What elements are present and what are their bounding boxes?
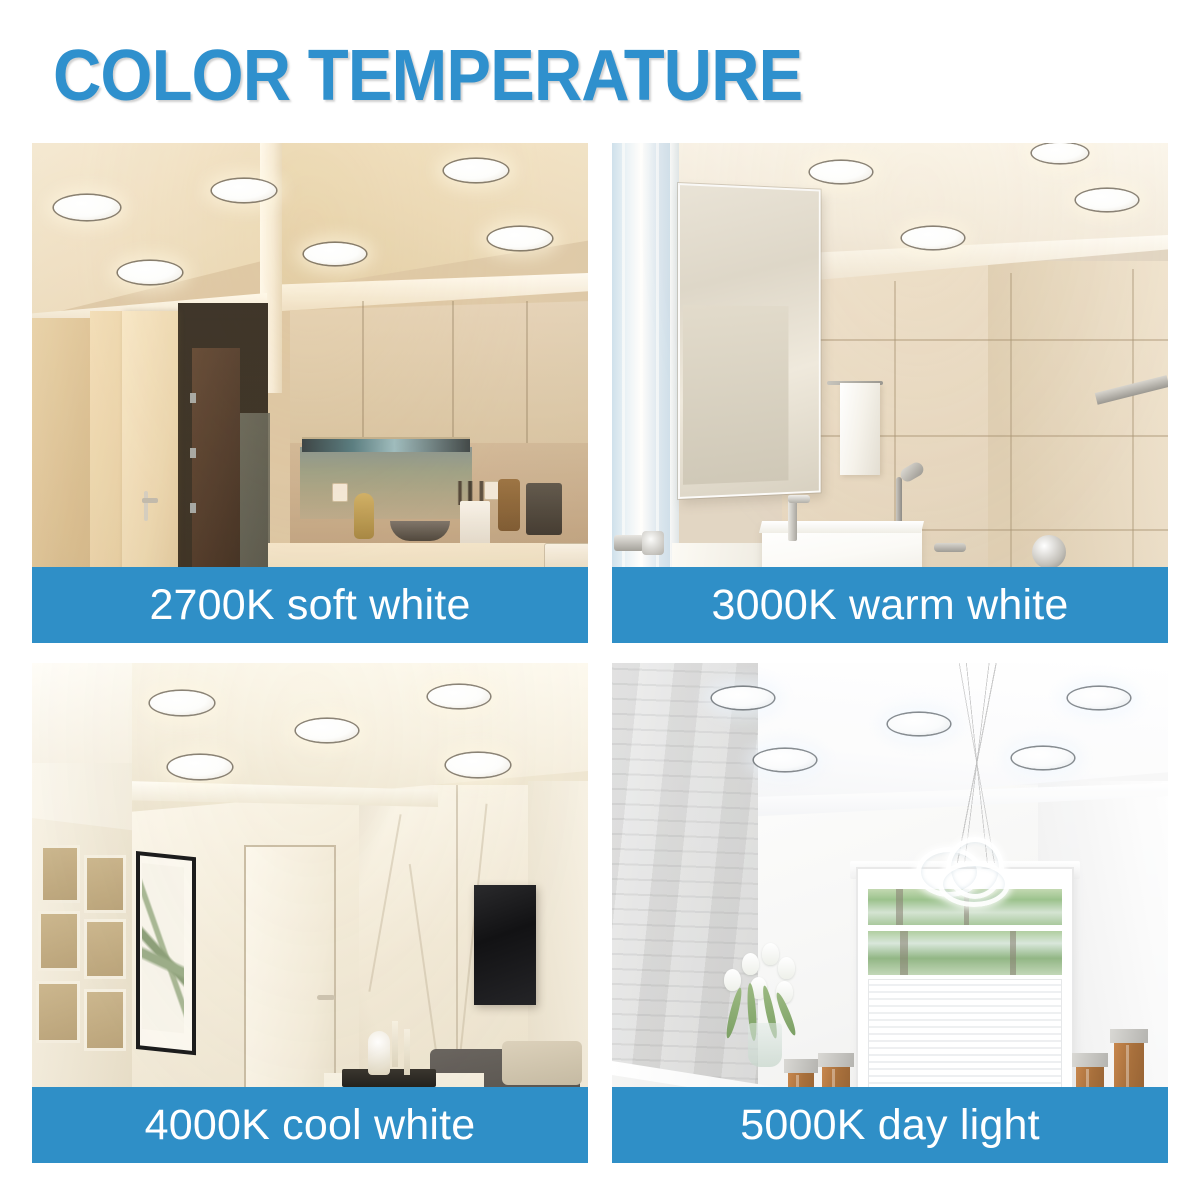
color-temperature-grid: 2700K soft white xyxy=(32,143,1168,1163)
downlight-icon xyxy=(428,685,490,708)
panel-caption-5000k: 5000K day light xyxy=(612,1087,1168,1163)
downlight-icon xyxy=(118,261,182,284)
panel-2700k[interactable]: 2700K soft white xyxy=(32,143,588,643)
panel-caption-2700k: 2700K soft white xyxy=(32,567,588,643)
downlight-icon xyxy=(444,159,508,182)
downlight-icon xyxy=(712,687,774,709)
downlight-icon xyxy=(446,753,510,777)
panel-caption-3000k: 3000K warm white xyxy=(612,567,1168,643)
panel-5000k[interactable]: 5000K day light xyxy=(612,663,1168,1163)
downlight-icon xyxy=(902,227,964,249)
downlight-icon xyxy=(1068,687,1130,709)
panel-3000k[interactable]: 3000K warm white xyxy=(612,143,1168,643)
downlight-icon xyxy=(296,719,358,742)
downlight-icon xyxy=(1032,143,1088,163)
downlight-icon xyxy=(810,161,872,183)
downlight-icon xyxy=(754,749,816,771)
downlight-icon xyxy=(488,227,552,250)
pendant-light-icon xyxy=(912,835,1022,911)
downlight-icon xyxy=(1076,189,1138,211)
downlight-icon xyxy=(212,179,276,202)
page-title: COLOR TEMPERATURE xyxy=(53,40,802,112)
downlight-icon xyxy=(304,243,366,265)
downlight-icon xyxy=(150,691,214,715)
downlight-icon xyxy=(168,755,232,779)
panel-4000k[interactable]: 4000K cool white xyxy=(32,663,588,1163)
panel-caption-4000k: 4000K cool white xyxy=(32,1087,588,1163)
downlight-icon xyxy=(54,195,120,220)
